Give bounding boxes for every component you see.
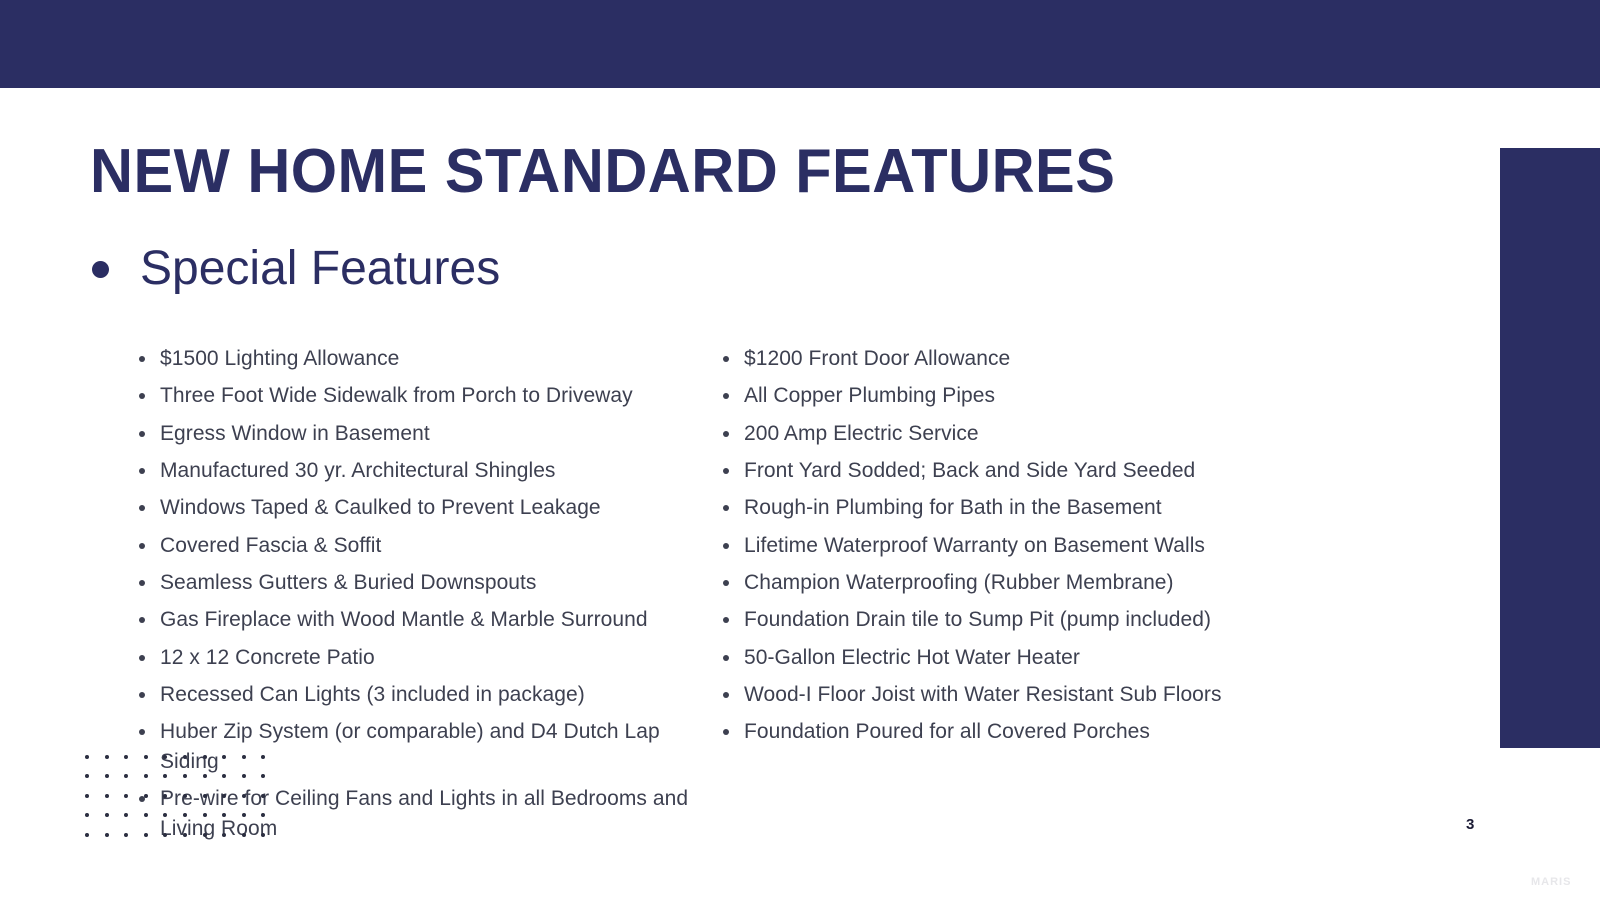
grid-dot [183, 755, 187, 759]
grid-dot [203, 755, 207, 759]
grid-dot [242, 794, 246, 798]
grid-dot [203, 813, 207, 817]
grid-dot [222, 794, 226, 798]
grid-dot [163, 833, 167, 837]
grid-dot [85, 794, 89, 798]
grid-dot [183, 774, 187, 778]
grid-dot [222, 774, 226, 778]
feature-item: Front Yard Sodded; Back and Side Yard Se… [720, 456, 1360, 486]
grid-dot [105, 774, 109, 778]
feature-item: Three Foot Wide Sidewalk from Porch to D… [136, 381, 710, 411]
decorative-dot-grid [85, 755, 281, 852]
feature-item: 50-Gallon Electric Hot Water Heater [720, 643, 1360, 673]
section-heading-label: Special Features [140, 243, 500, 296]
feature-item: All Copper Plumbing Pipes [720, 381, 1360, 411]
feature-item: Foundation Poured for all Covered Porche… [720, 717, 1360, 747]
feature-item: Lifetime Waterproof Warranty on Basement… [720, 531, 1360, 561]
grid-dot [261, 833, 265, 837]
right-navy-accent-bar [1500, 148, 1600, 748]
feature-item: Gas Fireplace with Wood Mantle & Marble … [136, 605, 710, 635]
grid-dot [163, 813, 167, 817]
grid-dot [242, 755, 246, 759]
grid-dot [261, 813, 265, 817]
feature-item: Manufactured 30 yr. Architectural Shingl… [136, 456, 710, 486]
grid-dot [144, 794, 148, 798]
grid-dot [163, 774, 167, 778]
grid-dot [242, 813, 246, 817]
feature-item: Egress Window in Basement [136, 419, 710, 449]
feature-item: Covered Fascia & Soffit [136, 531, 710, 561]
section-bullet-icon [92, 261, 109, 278]
grid-dot [124, 833, 128, 837]
feature-item: Rough-in Plumbing for Bath in the Baseme… [720, 493, 1360, 523]
grid-dot [124, 794, 128, 798]
feature-item: Wood-I Floor Joist with Water Resistant … [720, 680, 1360, 710]
grid-dot [144, 755, 148, 759]
watermark: MARIS [1531, 876, 1571, 888]
grid-dot [144, 833, 148, 837]
grid-dot [203, 794, 207, 798]
grid-dot [144, 774, 148, 778]
grid-dot [124, 755, 128, 759]
slide: NEW HOME STANDARD FEATURES Special Featu… [0, 0, 1600, 899]
grid-dot [85, 833, 89, 837]
feature-item: Recessed Can Lights (3 included in packa… [136, 680, 710, 710]
grid-dot [242, 833, 246, 837]
grid-dot [85, 774, 89, 778]
page-title: NEW HOME STANDARD FEATURES [90, 141, 1115, 203]
grid-dot [105, 813, 109, 817]
grid-dot [105, 833, 109, 837]
grid-dot [203, 833, 207, 837]
grid-dot [242, 774, 246, 778]
feature-item: 12 x 12 Concrete Patio [136, 643, 710, 673]
grid-dot [144, 813, 148, 817]
feature-item: Seamless Gutters & Buried Downspouts [136, 568, 710, 598]
feature-item: Windows Taped & Caulked to Prevent Leaka… [136, 493, 710, 523]
grid-dot [183, 794, 187, 798]
feature-item: $1500 Lighting Allowance [136, 344, 710, 374]
grid-dot [222, 813, 226, 817]
page-number: 3 [1466, 816, 1474, 833]
feature-item: 200 Amp Electric Service [720, 419, 1360, 449]
top-navy-banner [0, 0, 1600, 88]
feature-item: Champion Waterproofing (Rubber Membrane) [720, 568, 1360, 598]
grid-dot [261, 774, 265, 778]
features-right-column: $1200 Front Door AllowanceAll Copper Plu… [720, 344, 1360, 851]
grid-dot [163, 755, 167, 759]
grid-dot [105, 755, 109, 759]
grid-dot [85, 755, 89, 759]
feature-item: Foundation Drain tile to Sump Pit (pump … [720, 605, 1360, 635]
grid-dot [85, 813, 89, 817]
grid-dot [203, 774, 207, 778]
grid-dot [261, 794, 265, 798]
grid-dot [105, 794, 109, 798]
feature-item: $1200 Front Door Allowance [720, 344, 1360, 374]
grid-dot [222, 755, 226, 759]
grid-dot [183, 833, 187, 837]
feature-list-right: $1200 Front Door AllowanceAll Copper Plu… [720, 344, 1360, 747]
grid-dot [261, 755, 265, 759]
grid-dot [124, 813, 128, 817]
section-heading: Special Features [92, 243, 500, 296]
grid-dot [222, 833, 226, 837]
grid-dot [163, 794, 167, 798]
grid-dot [183, 813, 187, 817]
grid-dot [124, 774, 128, 778]
